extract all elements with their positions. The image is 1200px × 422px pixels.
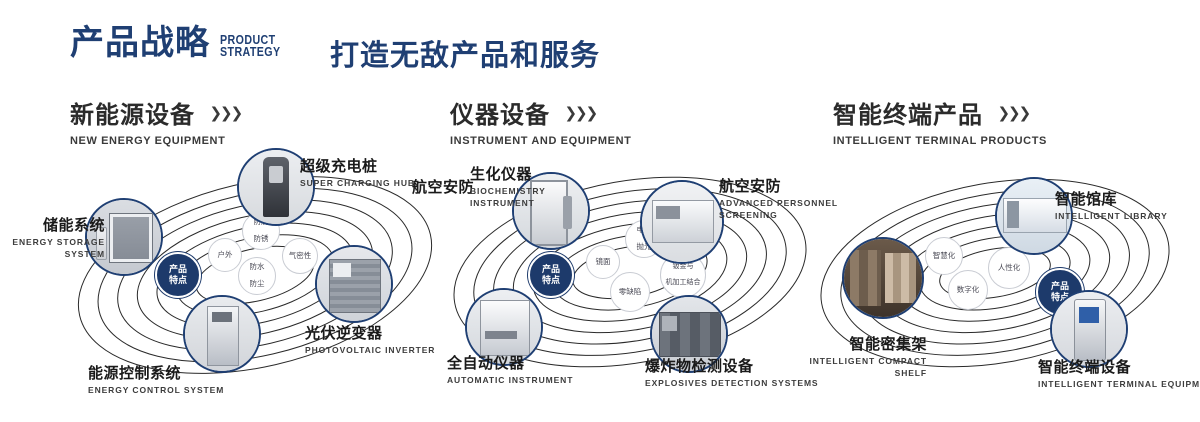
label-en-line1: BIOCHEMISTRY xyxy=(470,186,546,196)
core-label-line1: 产品 xyxy=(169,264,187,274)
product-strategy-infographic: 产品战略 PRODUCT STRATEGY 打造无敌产品和服务 新能源设备 ❯❯… xyxy=(0,0,1200,422)
node-intelligent-compact-shelf[interactable] xyxy=(842,237,924,319)
feature-label-line1: 防水 xyxy=(250,263,265,272)
label-cn: 智能密集架 xyxy=(790,333,927,354)
label-en-line1: SUPER CHARGING HUB xyxy=(300,178,415,188)
intelligent-terminal-equipment-icon xyxy=(1052,292,1126,366)
feature-bubble-outdoor: 户外 xyxy=(208,238,242,272)
feature-label-line1: 钣金与 xyxy=(666,263,701,271)
node-photovoltaic-inverter[interactable] xyxy=(315,245,393,323)
energy-control-system-icon xyxy=(185,297,259,371)
chevron-right-icon: ❯❯❯ xyxy=(209,104,241,122)
feature-label: 数字化 xyxy=(957,286,980,295)
label-en-line2: INSTRUMENT xyxy=(470,198,546,208)
node-advanced-personnel-screening[interactable] xyxy=(640,180,724,264)
section-header-intelligent-terminal: 智能终端产品 ❯❯❯ INTELLIGENT TERMINAL PRODUCTS xyxy=(833,95,1047,147)
section-header-instrument: 仪器设备 ❯❯❯ INSTRUMENT AND EQUIPMENT xyxy=(450,95,631,147)
feature-core-product-traits: 产品 特点 xyxy=(155,252,201,298)
label-en-line2: SHELF xyxy=(790,368,927,378)
intelligent-compact-shelf-icon xyxy=(844,239,922,317)
label-energy-control-system: 能源控制系统 ENERGY CONTROL SYSTEM xyxy=(88,362,224,395)
label-intelligent-library: 智能馆库 INTELLIGENT LIBRARY xyxy=(1055,188,1168,221)
label-cn: 储能系统 xyxy=(0,214,105,235)
label-photovoltaic-inverter: 光伏逆变器 PHOTOVOLTAIC INVERTER xyxy=(305,322,435,355)
brand-title-cn: 产品战略 xyxy=(70,26,210,60)
section-title-cn: 仪器设备 xyxy=(450,95,550,130)
brand-header: 产品战略 PRODUCT STRATEGY xyxy=(70,26,294,60)
label-cn: 能源控制系统 xyxy=(88,362,224,383)
core-label-line1: 产品 xyxy=(542,264,560,274)
feature-bubble-waterproof: 防水 防尘 xyxy=(238,257,276,295)
feature-bubble-smart: 智慧化 xyxy=(925,237,963,275)
section-title-en: INSTRUMENT AND EQUIPMENT xyxy=(450,135,631,147)
chevron-right-icon: ❯❯❯ xyxy=(564,104,596,122)
core-label-line2: 特点 xyxy=(542,275,560,285)
feature-bubble-mirror-finish: 镜面 xyxy=(586,245,620,279)
feature-bubble-digital: 数字化 xyxy=(948,270,988,310)
label-aviation-security-left: 航空安防 xyxy=(412,176,474,197)
core-label-line1: 产品 xyxy=(1051,281,1069,291)
feature-label-line2: 防尘 xyxy=(250,280,265,289)
label-en-line1: INTELLIGENT COMPACT xyxy=(790,356,927,366)
section-title-cn: 智能终端产品 xyxy=(833,95,983,130)
feature-label: 户外 xyxy=(218,251,233,260)
label-en-line2: SYSTEM xyxy=(0,249,105,259)
brand-title-en-line2: STRATEGY xyxy=(220,46,281,58)
label-cn: 光伏逆变器 xyxy=(305,322,435,343)
section-title-cn: 新能源设备 xyxy=(70,95,195,130)
feature-label: 智慧化 xyxy=(933,252,956,261)
feature-label: 气密性 xyxy=(289,252,312,261)
label-energy-storage-system: 储能系统 ENERGY STORAGE SYSTEM xyxy=(0,214,105,259)
advanced-personnel-screening-icon xyxy=(642,182,722,262)
label-cn: 生化仪器 xyxy=(470,163,546,184)
label-en-line1: EXPLOSIVES DETECTION SYSTEMS xyxy=(645,378,819,388)
label-en-line1: ENERGY STORAGE xyxy=(0,237,105,247)
page-headline: 打造无敌产品和服务 xyxy=(330,32,600,74)
feature-bubble-airtightness: 气密性 xyxy=(282,238,318,274)
label-super-charging-hub: 超级充电桩 SUPER CHARGING HUB xyxy=(300,155,415,188)
section-header-new-energy: 新能源设备 ❯❯❯ NEW ENERGY EQUIPMENT xyxy=(70,95,241,147)
chevron-right-icon: ❯❯❯ xyxy=(997,104,1029,122)
feature-label: 镜面 xyxy=(596,258,611,267)
feature-label: 零缺陷 xyxy=(619,288,642,297)
core-label-line2: 特点 xyxy=(169,275,187,285)
feature-label-line2: 机加工结合 xyxy=(666,279,701,287)
label-en-line1: ENERGY CONTROL SYSTEM xyxy=(88,385,224,395)
section-title-en: NEW ENERGY EQUIPMENT xyxy=(70,135,241,147)
label-en-line1: PHOTOVOLTAIC INVERTER xyxy=(305,345,435,355)
label-intelligent-terminal-equipment: 智能终端设备 INTELLIGENT TERMINAL EQUIPMENT xyxy=(1038,356,1200,389)
feature-label: 人性化 xyxy=(998,264,1021,273)
label-intelligent-compact-shelf: 智能密集架 INTELLIGENT COMPACT SHELF xyxy=(790,333,927,378)
label-cn: 航空安防 xyxy=(412,176,474,197)
label-automatic-instrument: 全自动仪器 AUTOMATIC INSTRUMENT xyxy=(447,352,573,385)
photovoltaic-inverter-icon xyxy=(317,247,391,321)
label-cn: 全自动仪器 xyxy=(447,352,573,373)
label-en-line1: AUTOMATIC INSTRUMENT xyxy=(447,375,573,385)
cluster-new-energy: 产品 特点 户外 防腐 防锈 防水 防尘 气密性 xyxy=(55,160,455,390)
feature-label-line2: 防锈 xyxy=(254,235,269,244)
label-cn: 智能终端设备 xyxy=(1038,356,1200,377)
label-cn: 超级充电桩 xyxy=(300,155,415,176)
feature-bubble-zero-defect: 零缺陷 xyxy=(610,272,650,312)
section-title-en: INTELLIGENT TERMINAL PRODUCTS xyxy=(833,135,1047,147)
label-en-line1: INTELLIGENT TERMINAL EQUIPMENT xyxy=(1038,379,1200,389)
label-en-line1: INTELLIGENT LIBRARY xyxy=(1055,211,1168,221)
label-cn: 智能馆库 xyxy=(1055,188,1168,209)
label-biochemistry-instrument: 生化仪器 BIOCHEMISTRY INSTRUMENT xyxy=(470,163,546,208)
brand-title-en: PRODUCT STRATEGY xyxy=(220,34,281,58)
